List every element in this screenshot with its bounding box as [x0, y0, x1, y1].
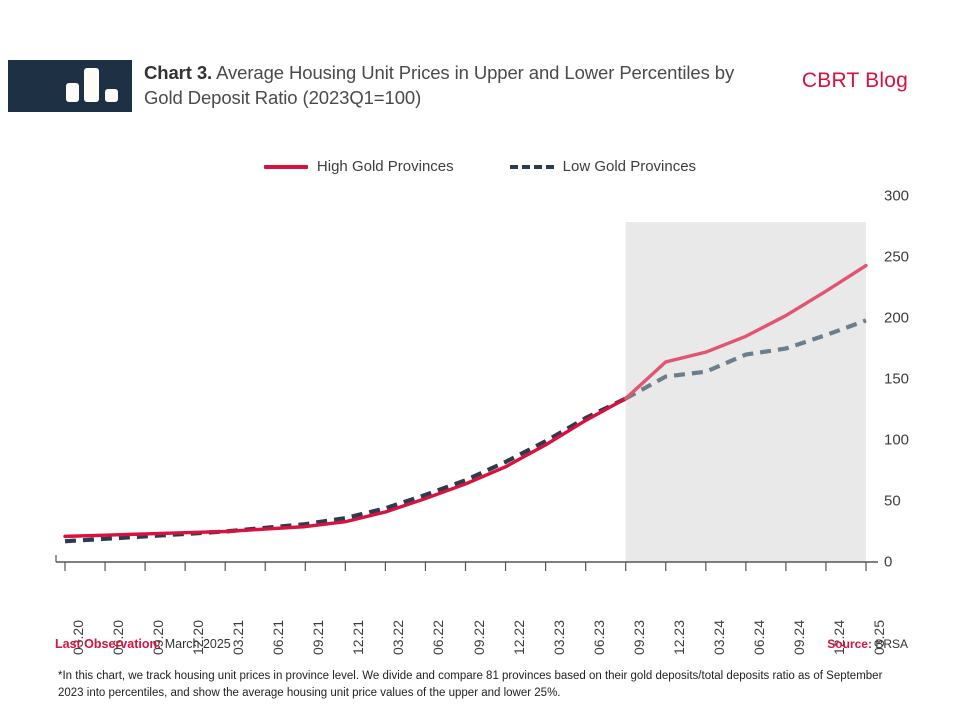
last-observation-label: Last Observation:	[55, 637, 161, 651]
legend-label-high-gold: High Gold Provinces	[317, 158, 454, 175]
logo-bar-2	[84, 68, 99, 102]
x-axis-tick-label: 06.21	[270, 620, 286, 655]
x-axis-tick-label: 03.24	[711, 620, 727, 655]
y-axis-tick-label: 0	[884, 554, 892, 571]
x-axis-tick-label: 06.24	[751, 620, 767, 655]
y-axis-tick-label: 250	[884, 249, 909, 266]
chart-number: Chart 3.	[144, 62, 212, 83]
logo-bar-1	[66, 83, 79, 102]
cbrt-bar-logo-icon	[8, 60, 132, 112]
y-axis-tick-label: 150	[884, 371, 909, 388]
x-axis-tick-label: 03.23	[551, 620, 567, 655]
series-line-high-gold-forecast	[626, 266, 866, 399]
x-axis-tick-label: 12.23	[671, 620, 687, 655]
series-line-low-gold-forecast	[626, 320, 866, 398]
chart-title-text: Average Housing Unit Prices in Upper and…	[144, 62, 734, 108]
x-axis-tick-label: 06.23	[591, 620, 607, 655]
chart-header: Chart 3. Average Housing Unit Prices in …	[0, 0, 960, 130]
source-note: Source: BRSA	[827, 637, 908, 651]
legend-item-high-gold[interactable]: High Gold Provinces	[264, 158, 454, 175]
series-line-low-gold-actual	[65, 399, 626, 542]
last-observation-value: March 2025	[161, 637, 230, 651]
x-axis-tick-label: 09.22	[471, 620, 487, 655]
page-title: Chart 3. Average Housing Unit Prices in …	[144, 60, 754, 110]
x-axis-tick-label: 12.21	[350, 620, 366, 655]
source-value: BRSA	[872, 637, 908, 651]
forecast-shaded-band	[626, 222, 866, 562]
legend-item-low-gold[interactable]: Low Gold Provinces	[510, 158, 696, 175]
x-axis-tick-label: 09.23	[631, 620, 647, 655]
y-axis-tick-label: 300	[884, 188, 909, 205]
series-line-high-gold-actual	[65, 399, 626, 537]
chart-footnote: *In this chart, we track housing unit pr…	[58, 668, 903, 702]
x-axis-tick-label: 12.22	[511, 620, 527, 655]
y-axis-tick-label: 100	[884, 432, 909, 449]
y-axis-tick-label: 50	[884, 493, 901, 510]
x-axis-tick-label: 06.22	[430, 620, 446, 655]
x-axis-tick-label: 03.22	[390, 620, 406, 655]
x-axis-tick-label: 09.21	[310, 620, 326, 655]
last-observation: Last Observation: March 2025	[55, 637, 231, 651]
legend-swatch-dashed-icon	[510, 165, 554, 169]
legend-label-low-gold: Low Gold Provinces	[563, 158, 696, 175]
x-axis-tick-label: 03.21	[230, 620, 246, 655]
x-axis-tick-label: 09.24	[791, 620, 807, 655]
legend-swatch-solid-icon	[264, 165, 308, 169]
logo-bar-3	[105, 89, 118, 102]
logo-bars	[66, 68, 120, 102]
source-label: Source:	[827, 637, 872, 651]
x-axis-labels: 03.2006.2009.2012.2003.2106.2109.2112.21…	[0, 570, 960, 640]
chart-legend: High Gold Provinces Low Gold Provinces	[0, 158, 960, 175]
y-axis-tick-label: 200	[884, 310, 909, 327]
